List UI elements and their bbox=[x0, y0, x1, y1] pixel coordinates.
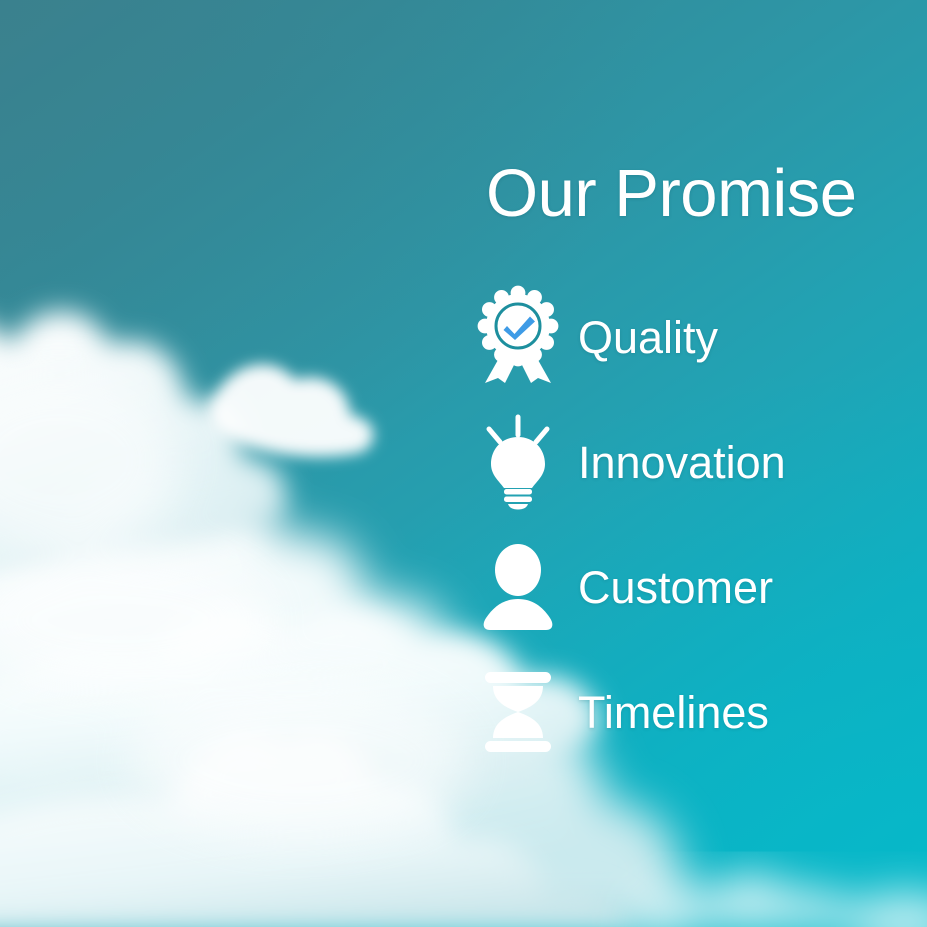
promise-label-innovation: Innovation bbox=[578, 440, 786, 485]
promise-poster: Our Promise bbox=[0, 0, 927, 927]
list-item[interactable]: Innovation bbox=[470, 414, 900, 510]
list-item[interactable]: Quality bbox=[470, 289, 900, 385]
list-item[interactable]: Customer bbox=[470, 539, 900, 635]
lightbulb-glyph bbox=[481, 415, 555, 509]
hourglass-glyph bbox=[485, 672, 551, 752]
page-title: Our Promise bbox=[486, 160, 900, 227]
promise-list: Quality bbox=[470, 289, 900, 760]
person-icon bbox=[470, 539, 566, 635]
lightbulb-icon bbox=[470, 414, 566, 510]
list-item[interactable]: Timelines bbox=[470, 664, 900, 760]
hourglass-icon bbox=[470, 664, 566, 760]
quality-badge-icon bbox=[470, 289, 566, 385]
promise-label-timelines: Timelines bbox=[578, 690, 769, 735]
quality-badge-glyph bbox=[479, 291, 557, 383]
promise-content: Our Promise bbox=[470, 160, 900, 760]
person-glyph bbox=[480, 544, 556, 630]
promise-label-customer: Customer bbox=[578, 565, 773, 610]
promise-label-quality: Quality bbox=[578, 315, 718, 360]
